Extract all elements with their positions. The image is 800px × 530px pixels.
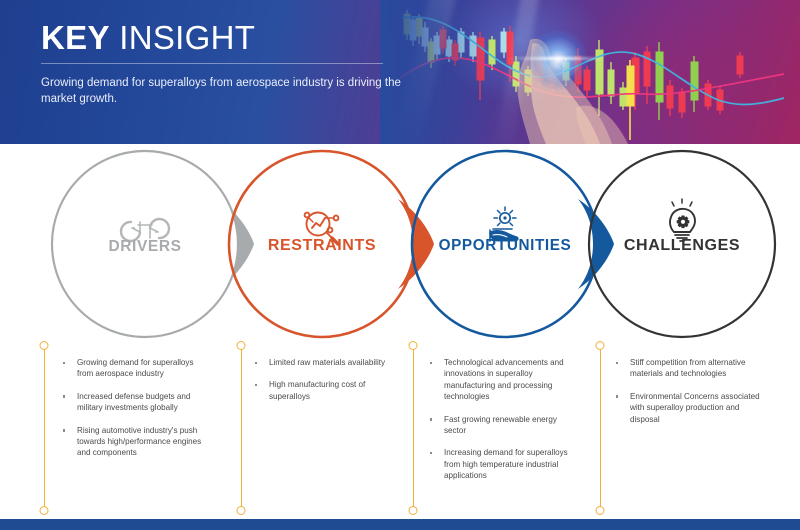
pin-dot-restraints-bottom — [237, 506, 246, 515]
bullet-item: Rising automotive industry's push toward… — [60, 425, 210, 459]
bullet-item: Increased defense budgets and military i… — [60, 391, 210, 414]
pin-line-restraints — [241, 345, 242, 510]
bullets-opportunities: Technological advancements and innovatio… — [427, 357, 572, 493]
circle-label-challenges: CHALLENGES — [624, 237, 740, 255]
pin-dot-drivers-top — [40, 341, 49, 350]
finger-glow-streak — [510, 57, 606, 60]
finger-glow — [528, 30, 588, 90]
pin-dot-challenges-bottom — [596, 506, 605, 515]
bullets-restraints: Limited raw materials availability High … — [252, 357, 388, 413]
pin-dot-opportunities-bottom — [409, 506, 418, 515]
bullets-drivers: Growing demand for superalloys from aero… — [60, 357, 210, 470]
title-divider — [41, 63, 383, 64]
bullet-item: Environmental Concerns associated with s… — [613, 391, 761, 425]
bullet-item: Growing demand for superalloys from aero… — [60, 357, 210, 380]
pin-line-challenges — [600, 345, 601, 510]
arrow-opportunities-to-challenges — [578, 199, 614, 289]
pin-line-opportunities — [413, 345, 414, 510]
lightbulb-gear-icon — [670, 199, 695, 241]
infographic-page: KEY INSIGHT Growing demand for superallo… — [0, 0, 800, 530]
circle-label-drivers: DRIVERS — [108, 238, 181, 256]
hand-sun-icon — [490, 207, 518, 241]
pin-dot-drivers-bottom — [40, 506, 49, 515]
page-title-light: INSIGHT — [110, 19, 255, 56]
page-title-bold: KEY — [41, 19, 110, 56]
bullet-item: Technological advancements and innovatio… — [427, 357, 572, 403]
bullet-item: Fast growing renewable energy sector — [427, 414, 572, 437]
circle-label-opportunities: OPPORTUNITIES — [439, 237, 572, 255]
page-subtitle: Growing demand for superalloys from aero… — [41, 75, 431, 107]
header-banner: KEY INSIGHT Growing demand for superallo… — [0, 0, 800, 144]
bullet-item: Limited raw materials availability — [252, 357, 388, 368]
footer-bar — [0, 519, 800, 530]
page-title: KEY INSIGHT — [41, 18, 441, 58]
circle-label-restraints: RESTRAINTS — [268, 237, 376, 255]
pin-dot-opportunities-top — [409, 341, 418, 350]
pin-line-drivers — [44, 345, 45, 510]
title-block: KEY INSIGHT Growing demand for superallo… — [41, 18, 441, 107]
bullets-challenges: Stiff competition from alternative mater… — [613, 357, 761, 436]
bullet-item: Stiff competition from alternative mater… — [613, 357, 761, 380]
pin-dot-restraints-top — [237, 341, 246, 350]
header-stock-chart-photo — [380, 0, 800, 144]
bullet-item: Increasing demand for superalloys from h… — [427, 447, 572, 481]
pin-dot-challenges-top — [596, 341, 605, 350]
bullet-item: High manufacturing cost of superalloys — [252, 379, 388, 402]
process-circles-row: DRIVERS RESTRAINTS OPPORTUNITIES CHALLEN… — [0, 144, 800, 344]
